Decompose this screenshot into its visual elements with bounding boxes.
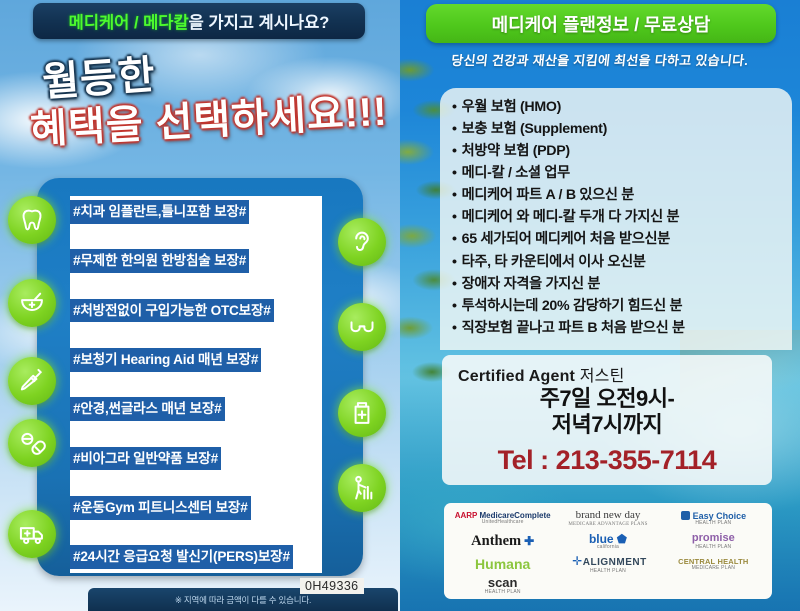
hours-line-2: 저녁7시까지 xyxy=(442,412,772,438)
business-hours: 주7일 오전9시- 저녁7시까지 xyxy=(442,386,772,438)
watermark: 0H49336 xyxy=(300,578,364,594)
mortar-pestle-icon xyxy=(8,279,56,327)
list-item: 65 세가되어 메디케어 처음 받으신분 xyxy=(452,228,797,250)
list-item: #비아그라 일반약품 보장# xyxy=(70,447,221,471)
list-item: #치과 임플란트,틀니포함 보장# xyxy=(70,200,249,224)
carrier-logo-alignment: ✛ALIGNMENTHEALTH PLAN xyxy=(569,555,647,574)
carrier-logo-promise: promiseHEALTH PLAN xyxy=(692,533,735,550)
carrier-logo-aarp: AARP MedicareCompleteUnitedHealthcare xyxy=(455,512,551,526)
cross-icon: ✚ xyxy=(524,535,534,548)
fitness-person-icon xyxy=(338,464,386,512)
carrier-logos-grid: AARP MedicareCompleteUnitedHealthcare br… xyxy=(444,503,772,599)
list-item: #무제한 한의원 한방침술 보장# xyxy=(70,249,249,273)
list-item: 타주, 타 카운티에서 이사 오신분 xyxy=(452,251,797,273)
carrier-name: brand new day xyxy=(576,509,641,521)
carrier-name: Humana xyxy=(475,556,530,572)
list-item: #24시간 응급요청 발신기(PERS)보장# xyxy=(70,545,293,569)
pills-icon xyxy=(8,419,56,467)
tooth-icon xyxy=(8,196,56,244)
ear-icon xyxy=(338,218,386,266)
carrier-logo-humana: Humana xyxy=(475,557,530,572)
carrier-sub: MEDICARE PLAN xyxy=(678,566,748,571)
carrier-sub: HEALTH PLAN xyxy=(681,521,747,526)
ambulance-icon xyxy=(8,510,56,558)
carrier-name: ALIGNMENT xyxy=(583,557,647,568)
list-item: #운동Gym 피트니스센터 보장# xyxy=(70,496,251,520)
left-hero: 월등한 혜택을 선택하세요!!! xyxy=(0,40,400,170)
right-header-bar: 메디케어 플랜정보 / 무료상담 xyxy=(426,4,776,43)
carrier-name: Anthem xyxy=(471,533,521,549)
right-subtitle: 당신의 건강과 재산을 지킴에 최선을 다하고 있습니다. xyxy=(400,50,800,69)
list-item: 메디케어 와 메디-칼 두개 다 가지신 분 xyxy=(452,206,797,228)
carrier-name: promise xyxy=(692,532,735,544)
agent-label: Certified Agent xyxy=(458,368,575,385)
agent-line: Certified Agent 저스틴 xyxy=(458,362,625,386)
list-item: 메디-칼 / 소셜 업무 xyxy=(452,162,797,184)
carrier-logo-scan: scanHEALTH PLAN xyxy=(485,576,521,595)
carrier-sub: UnitedHealthcare xyxy=(455,520,551,525)
eligibility-list: 우월 보험 (HMO) 보충 보험 (Supplement) 처방약 보험 (P… xyxy=(452,96,797,339)
carrier-sub: HEALTH PLAN xyxy=(569,569,647,574)
left-header-rest: 을 가지고 계시나요? xyxy=(189,14,330,32)
checkbox-mark-icon xyxy=(681,511,690,520)
left-header-text: 메디케어 / 메다칼을 가지고 계시나요? xyxy=(69,9,330,33)
carrier-logo-central-health: CENTRAL HEALTHMEDICARE PLAN xyxy=(678,558,748,571)
medicine-bottle-icon xyxy=(338,389,386,437)
list-item: 보충 보험 (Supplement) xyxy=(452,118,797,140)
carrier-logo-blue-shield: blue⬟california xyxy=(589,533,627,551)
list-item: 직장보험 끝나고 파트 B 처음 받으신 분 xyxy=(452,317,797,339)
phone-number[interactable]: Tel : 213-355-7114 xyxy=(442,445,772,476)
glasses-icon xyxy=(338,303,386,351)
right-panel: 메디케어 플랜정보 / 무료상담 당신의 건강과 재산을 지킴에 최선을 다하고… xyxy=(400,0,800,611)
carrier-sub: HEALTH PLAN xyxy=(692,545,735,550)
left-panel: 메디케어 / 메다칼을 가지고 계시나요? 월등한 혜택을 선택하세요!!! #… xyxy=(0,0,400,611)
advertisement-flyer: 메디케어 / 메다칼을 가지고 계시나요? 월등한 혜택을 선택하세요!!! #… xyxy=(0,0,800,611)
agent-name: 저스틴 xyxy=(580,368,625,385)
carrier-sub: MEDICARE ADVANTAGE PLANS xyxy=(568,522,647,527)
list-item: 장애자 자격을 가지신 분 xyxy=(452,273,797,295)
list-item: 처방약 보험 (PDP) xyxy=(452,140,797,162)
benefits-list: #치과 임플란트,틀니포함 보장# #무제한 한의원 한방침술 보장# #처방전… xyxy=(70,196,332,573)
list-item: #처방전없이 구입가능한 OTC보장# xyxy=(70,299,274,323)
left-header-bar: 메디케어 / 메다칼을 가지고 계시나요? xyxy=(33,3,365,39)
carrier-sub: california xyxy=(589,545,627,550)
carrier-logo-anthem: Anthem✚ xyxy=(471,534,534,549)
left-header-highlight: 메디케어 / 메다칼 xyxy=(69,14,189,32)
cross-icon: ✛ xyxy=(572,555,583,568)
carrier-logo-brand-new-day: brand new dayMEDICARE ADVANTAGE PLANS xyxy=(568,510,647,527)
list-item: 메디케어 파트 A / B 있으신 분 xyxy=(452,184,797,206)
list-item: #안경,썬글라스 매년 보장# xyxy=(70,397,225,421)
hours-line-1: 주7일 오전9시- xyxy=(442,386,772,412)
right-header-text: 메디케어 플랜정보 / 무료상담 xyxy=(492,11,711,37)
list-item: 우월 보험 (HMO) xyxy=(452,96,797,118)
syringe-icon xyxy=(8,357,56,405)
list-item: #보청기 Hearing Aid 매년 보장# xyxy=(70,348,261,372)
footer-note-text: ※ 지역에 따라 금액이 다를 수 있습니다. xyxy=(175,594,311,606)
list-item: 투석하시는데 20% 감당하기 힘드신 분 xyxy=(452,295,797,317)
carrier-logo-easy-choice: Easy ChoiceHEALTH PLAN xyxy=(681,511,747,527)
carrier-name: scan xyxy=(488,575,518,590)
carrier-sub: HEALTH PLAN xyxy=(485,590,521,595)
